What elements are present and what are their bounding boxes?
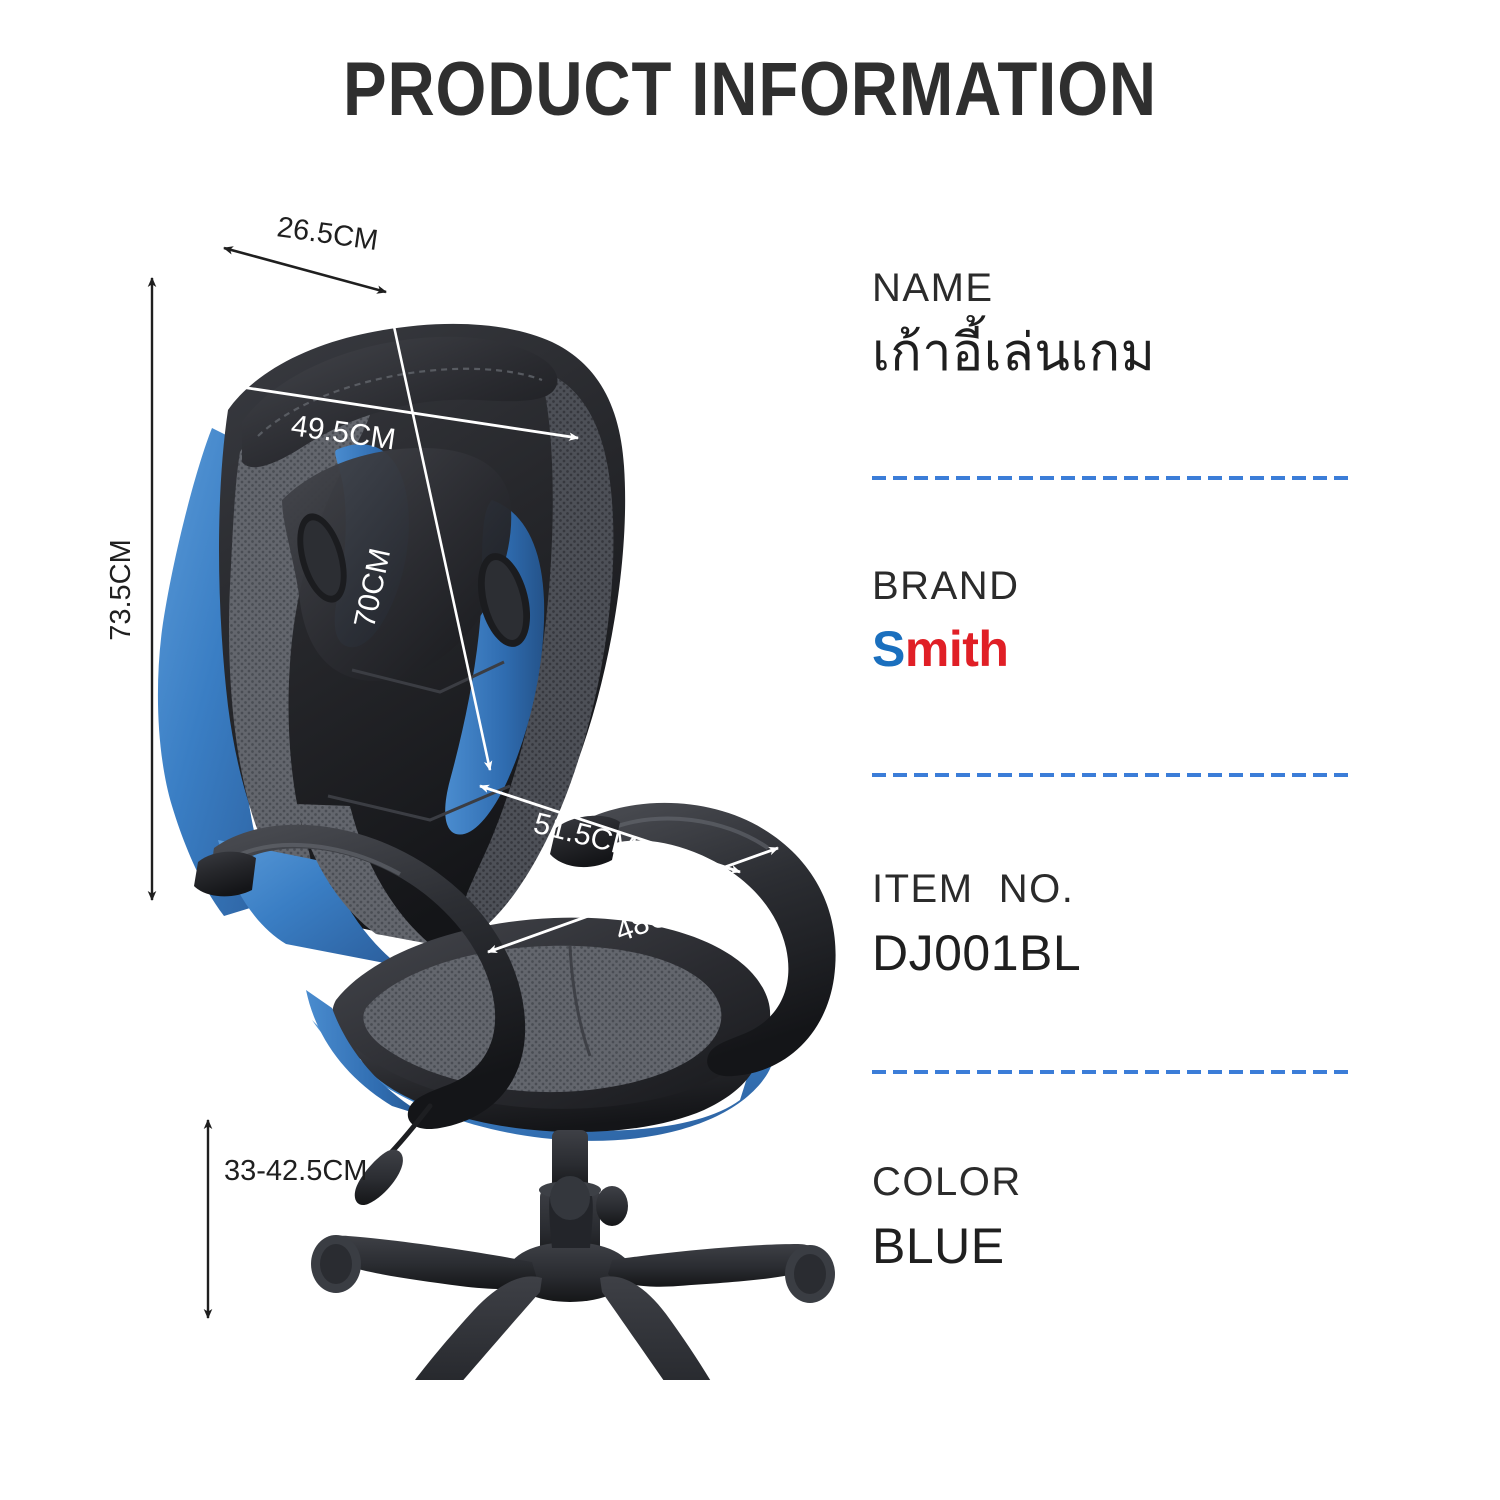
chair-graphic	[158, 324, 836, 1380]
spec-label-brand: BRAND	[872, 566, 1350, 606]
spec-value-name: เก้าอี้เล่นเกม	[872, 324, 1350, 384]
spec-pane: NAME เก้าอี้เล่นเกม BRAND Smith ITEM NO.…	[872, 268, 1350, 1276]
brand-logo: Smith	[872, 622, 1350, 677]
base-leg-front-left	[386, 1276, 542, 1380]
gas-cylinder-knob	[596, 1186, 628, 1226]
spec-block-brand: BRAND Smith	[872, 566, 1350, 677]
caster-left	[311, 1235, 361, 1293]
dimension-overall-height: 73.5CM	[105, 278, 152, 900]
brand-logo-initial: S	[872, 621, 905, 677]
armrest-left-bracket	[194, 852, 256, 897]
spec-value-color: BLUE	[872, 1218, 1350, 1276]
caster-right	[785, 1245, 835, 1303]
base-leg-front-right	[600, 1276, 738, 1380]
spec-block-name: NAME เก้าอี้เล่นเกม	[872, 268, 1350, 384]
spec-label-name: NAME	[872, 268, 1350, 308]
spec-block-item-no: ITEM NO. DJ001BL	[872, 869, 1350, 983]
dimension-overall-height-label: 73.5CM	[105, 539, 137, 641]
gaming-chair-illustration: 26.5CM 73.5CM 49.5CM 70CM 51.5CM 48CM	[100, 200, 880, 1380]
spec-block-color: COLOR BLUE	[872, 1162, 1350, 1276]
page-title: PRODUCT INFORMATION	[105, 46, 1395, 133]
brand-logo-rest: mith	[905, 621, 1009, 677]
caster-back	[550, 1176, 590, 1220]
dimension-seat-height-label: 33-42.5CM	[224, 1155, 367, 1187]
product-image-pane: 26.5CM 73.5CM 49.5CM 70CM 51.5CM 48CM	[100, 200, 880, 1380]
spec-label-item-no: ITEM NO.	[872, 869, 1350, 909]
dimension-width-top-label: 26.5CM	[275, 211, 380, 257]
spec-value-item-no: DJ001BL	[872, 925, 1350, 983]
spec-label-color: COLOR	[872, 1162, 1350, 1202]
dimension-width-top: 26.5CM	[224, 211, 386, 292]
